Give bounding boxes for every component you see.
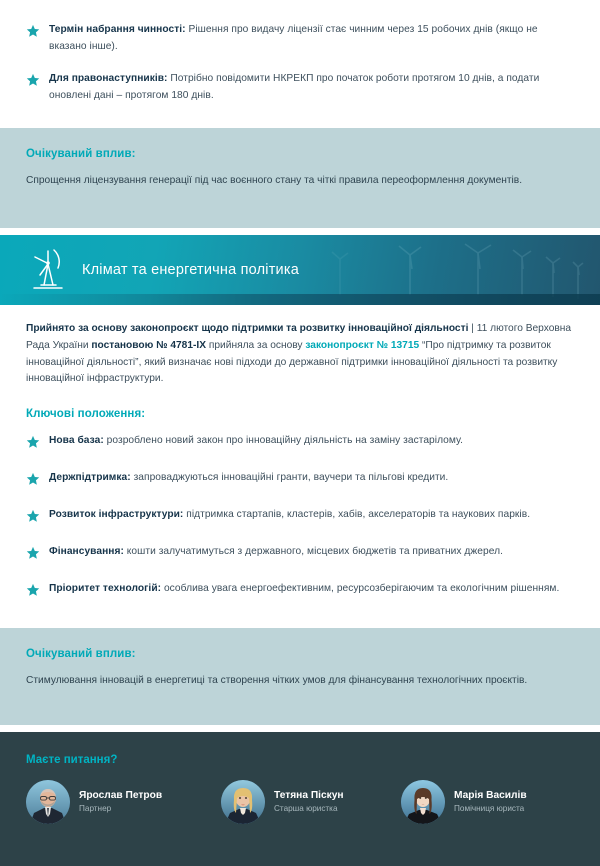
list-item-lead: Розвиток інфраструктури:	[49, 509, 183, 520]
top-bullet-list: Термін набрання чинності: Рішення про ви…	[0, 22, 600, 104]
list-item-body: підтримка стартапів, кластерів, хабів, а…	[183, 509, 530, 520]
list-item: Фінансування: кошти залучатимуться з дер…	[26, 544, 574, 565]
list-item: Термін набрання чинності: Рішення про ви…	[26, 22, 574, 55]
contact-role: Помічниця юриста	[454, 803, 527, 815]
list-item: Пріоритет технологій: особлива увага ене…	[26, 581, 574, 602]
footer-title: Маєте питання?	[26, 754, 574, 766]
list-item-lead: Термін набрання чинності:	[49, 24, 186, 35]
contacts-row: Ярослав Петров Партнер	[26, 780, 574, 824]
list-item-lead: Держпідтримка:	[49, 472, 131, 483]
contact-card[interactable]: Тетяна Піскун Старша юристка	[221, 780, 401, 824]
avatar	[401, 780, 445, 824]
draft-law-reference[interactable]: законопроєкт № 13715	[305, 340, 419, 351]
list-item-body: запроваджуються інноваційні гранти, вауч…	[131, 472, 449, 483]
contact-name: Марія Василів	[454, 789, 527, 802]
star-icon	[26, 24, 40, 43]
banner-horizon-strip	[0, 294, 600, 305]
expected-impact-box-1: Очікуваний вплив: Спрощення ліцензування…	[0, 128, 600, 228]
list-item: Для правонаступників: Потрібно повідомит…	[26, 71, 574, 104]
expected-impact-body: Спрощення ліцензування генерації під час…	[26, 173, 574, 190]
list-item-text: Пріоритет технологій: особлива увага ене…	[49, 581, 559, 598]
newsletter-page: Термін набрання чинності: Рішення про ви…	[0, 0, 600, 849]
intro-part2: прийняла за основу	[206, 340, 305, 351]
intro-separator: |	[468, 323, 476, 334]
list-item-lead: Нова база:	[49, 435, 104, 446]
contact-info: Ярослав Петров Партнер	[79, 789, 162, 815]
expected-impact-title: Очікуваний вплив:	[26, 148, 574, 160]
wind-turbine-icon	[26, 245, 68, 296]
list-item-lead: Фінансування:	[49, 546, 124, 557]
section-banner-title: Клімат та енергетична політика	[82, 262, 299, 278]
contact-role: Старша юристка	[274, 803, 344, 815]
list-item-lead: Для правонаступників:	[49, 73, 168, 84]
list-item-text: Для правонаступників: Потрібно повідомит…	[49, 71, 574, 104]
list-item-text: Нова база: розроблено новий закон про ін…	[49, 433, 463, 450]
star-icon	[26, 509, 40, 528]
list-item-body: кошти залучатимуться з державного, місце…	[124, 546, 503, 557]
star-icon	[26, 435, 40, 454]
list-item-body: розроблено новий закон про інноваційну д…	[104, 435, 463, 446]
contact-info: Марія Василів Помічниця юриста	[454, 789, 527, 815]
list-item-text: Держпідтримка: запроваджуються інновацій…	[49, 470, 448, 487]
contact-card[interactable]: Марія Василів Помічниця юриста	[401, 780, 527, 824]
top-spacer	[0, 0, 600, 22]
avatar	[221, 780, 265, 824]
contact-name: Тетяна Піскун	[274, 789, 344, 802]
section-banner-climate: Клімат та енергетична політика	[0, 235, 600, 305]
intro-bold-lead: Прийнято за основу законопроєкт щодо під…	[26, 323, 468, 334]
contact-role: Партнер	[79, 803, 162, 815]
star-icon	[26, 73, 40, 92]
list-item: Держпідтримка: запроваджуються інновацій…	[26, 470, 574, 491]
list-item-text: Фінансування: кошти залучатимуться з дер…	[49, 544, 503, 561]
key-provisions-list: Нова база: розроблено новий закон про ін…	[0, 433, 600, 602]
spacer	[0, 228, 600, 235]
list-item: Розвиток інфраструктури: підтримка старт…	[26, 507, 574, 528]
resolution-reference[interactable]: постановою № 4781-IX	[91, 340, 206, 351]
expected-impact-box-2: Очікуваний вплив: Стимулювання інновацій…	[0, 628, 600, 725]
contacts-footer: Маєте питання?	[0, 732, 600, 866]
list-item: Нова база: розроблено новий закон про ін…	[26, 433, 574, 454]
star-icon	[26, 583, 40, 602]
contact-card[interactable]: Ярослав Петров Партнер	[26, 780, 221, 824]
list-item-text: Розвиток інфраструктури: підтримка старт…	[49, 507, 530, 524]
list-item-lead: Пріоритет технологій:	[49, 583, 161, 594]
spacer	[0, 618, 600, 628]
list-item-text: Термін набрання чинності: Рішення про ви…	[49, 22, 574, 55]
contact-name: Ярослав Петров	[79, 789, 162, 802]
spacer	[0, 725, 600, 732]
avatar	[26, 780, 70, 824]
star-icon	[26, 546, 40, 565]
expected-impact-title: Очікуваний вплив:	[26, 648, 574, 660]
list-item-body: особлива увага енергоефективним, ресурсо…	[161, 583, 559, 594]
contact-info: Тетяна Піскун Старша юристка	[274, 789, 344, 815]
intro-paragraph: Прийнято за основу законопроєкт щодо під…	[0, 305, 600, 394]
key-provisions-heading: Ключові положення:	[0, 394, 600, 433]
star-icon	[26, 472, 40, 491]
spacer	[0, 120, 600, 128]
expected-impact-body: Стимулювання інновацій в енергетиці та с…	[26, 673, 574, 690]
